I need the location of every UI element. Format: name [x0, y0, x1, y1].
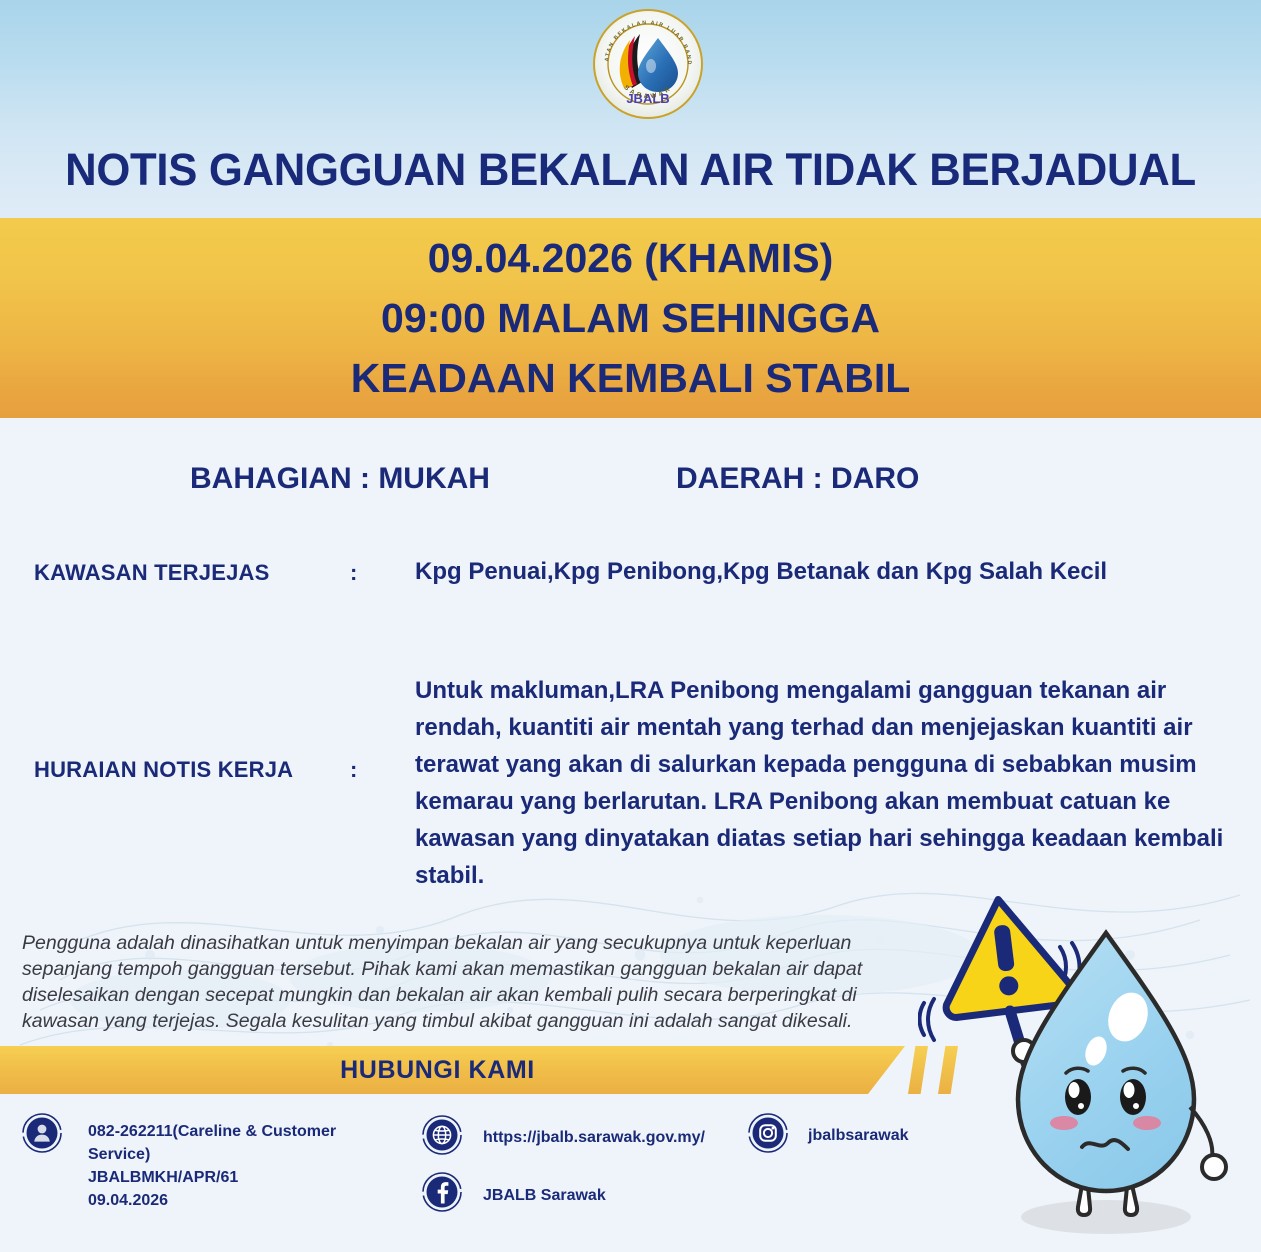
kawasan-terjejas-value: Kpg Penuai,Kpg Penibong,Kpg Betanak dan … — [415, 558, 1107, 586]
facebook-icon — [422, 1172, 462, 1212]
huraian-notis-kerja-colon: : — [350, 757, 357, 783]
huraian-notis-kerja-label: HURAIAN NOTIS KERJA — [34, 757, 293, 783]
date-line-2: 09:00 MALAM SEHINGGA — [381, 288, 880, 348]
person-phone-icon — [22, 1113, 62, 1153]
decorative-slash-2 — [938, 1046, 958, 1094]
facebook-page[interactable]: JBALB Sarawak — [483, 1184, 606, 1207]
jbalb-logo-icon: JBALB JABATAN BEKALAN AIR LUAR BANDAR SA… — [592, 8, 704, 120]
instagram-icon — [748, 1113, 788, 1153]
globe-icon — [422, 1115, 462, 1155]
instagram-handle[interactable]: jbalbsarawak — [808, 1124, 909, 1147]
jbalb-logo: JBALB JABATAN BEKALAN AIR LUAR BANDAR SA… — [592, 8, 704, 120]
date-line-3: KEADAAN KEMBALI STABIL — [351, 348, 911, 408]
decorative-slash-1 — [908, 1046, 928, 1094]
phone-contact-text[interactable]: 082-262211(Careline & Customer Service) … — [88, 1120, 378, 1212]
date-banner: 09.04.2026 (KHAMIS) 09:00 MALAM SEHINGGA… — [0, 218, 1261, 418]
website-link[interactable]: https://jbalb.sarawak.gov.my/ — [483, 1126, 705, 1149]
daerah-label: DAERAH : DARO — [676, 462, 919, 496]
bahagian-label: BAHAGIAN : MUKAH — [190, 462, 490, 496]
kawasan-terjejas-label: KAWASAN TERJEJAS — [34, 560, 269, 586]
kawasan-terjejas-colon: : — [350, 560, 357, 586]
contact-heading-text: HUBUNGI KAMI — [340, 1056, 535, 1085]
advisory-text: Pengguna adalah dinasihatkan untuk menyi… — [22, 930, 902, 1034]
notice-poster: JBALB JABATAN BEKALAN AIR LUAR BANDAR SA… — [0, 0, 1261, 1252]
contact-heading-bar: HUBUNGI KAMI — [0, 1046, 905, 1094]
huraian-notis-kerja-value: Untuk makluman,LRA Penibong mengalami ga… — [415, 672, 1235, 894]
region-row: BAHAGIAN : MUKAH DAERAH : DARO — [0, 462, 1261, 506]
water-droplet-mascot — [918, 885, 1261, 1252]
date-line-1: 09.04.2026 (KHAMIS) — [428, 228, 834, 288]
page-title: NOTIS GANGGUAN BEKALAN AIR TIDAK BERJADU… — [19, 142, 1242, 198]
